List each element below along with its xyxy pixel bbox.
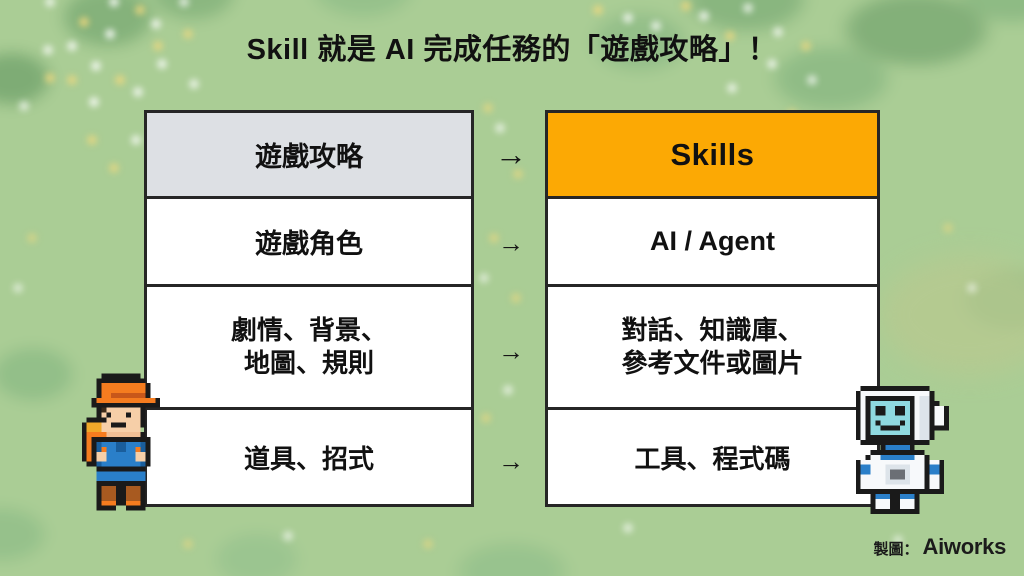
arrow-right-icon-3: → [488,338,534,364]
right-table-row-3: 工具、程式碼 [548,410,877,504]
credit-label: 製圖： [874,538,919,559]
left-row-2-line-2: 地圖、規則 [231,347,387,380]
left-table-row-2: 劇情、背景、 地圖、規則 [147,287,471,410]
right-row-3-line-1: 工具、程式碼 [634,439,790,476]
left-row-2-line-1: 劇情、背景、 [231,314,387,347]
arrow-right-icon-1: → [488,138,534,170]
left-comparison-table: 遊戲攻略 遊戲角色 劇情、背景、 地圖、規則 道具、招式 [144,110,474,507]
right-table-row-2: 對話、知識庫、 參考文件或圖片 [548,287,877,410]
credit-attribution: 製圖： Aiworks [874,534,1007,560]
arrow-right-icon-4: → [488,448,534,474]
right-row-2-line-1: 對話、知識庫、 [621,314,803,347]
page-title: Skill 就是 AI 完成任務的「遊戲攻略」！ [0,26,1024,68]
right-row-2-line-2: 參考文件或圖片 [621,347,803,380]
left-table-row-1: 遊戲角色 [147,199,471,287]
right-row-1-line-1: AI / Agent [650,226,775,257]
right-table-header-label: Skills [671,137,755,173]
right-table-header: Skills [548,113,877,199]
brand-logo-text: Aiworks [923,534,1006,560]
arrow-right-icon-2: → [488,230,534,256]
slide-canvas: Skill 就是 AI 完成任務的「遊戲攻略」！ 遊戲攻略 遊戲角色 劇情、背景… [0,0,1024,576]
left-table-header-label: 遊戲攻略 [255,135,363,174]
left-row-1-line-1: 遊戲角色 [255,222,363,261]
left-table-row-3: 道具、招式 [147,410,471,504]
pixel-boy-character-icon [72,368,170,516]
pixel-robot-character-icon [846,380,954,515]
left-row-3-line-1: 道具、招式 [244,439,374,476]
right-comparison-table: Skills AI / Agent 對話、知識庫、 參考文件或圖片 工具、程式碼 [545,110,880,507]
right-table-row-1: AI / Agent [548,199,877,287]
left-table-header: 遊戲攻略 [147,113,471,199]
